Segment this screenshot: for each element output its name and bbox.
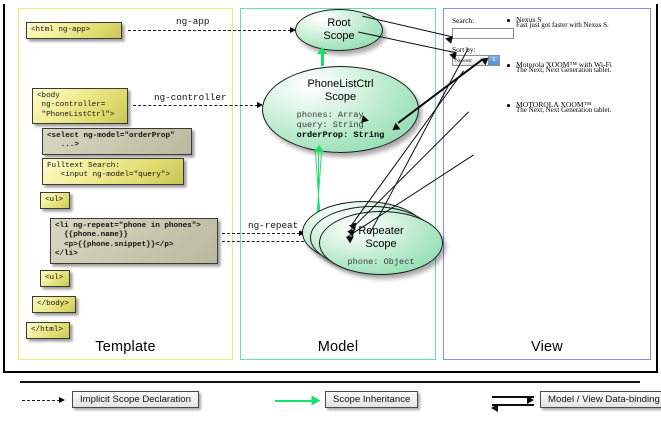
view-sort-label: Sort by: <box>452 45 514 54</box>
frame-right-border <box>656 4 658 372</box>
scope-repeater-title-1: Repeater <box>320 225 442 238</box>
scope-property-phone: phone: Object <box>347 257 414 267</box>
connector-label-ng-controller: ng-controller <box>152 92 229 103</box>
lane-label-model: Model <box>241 339 435 355</box>
bullet-icon <box>507 64 510 67</box>
code-box-select: <select ng-model="orderProp" ...> <box>42 128 192 155</box>
frame-bottom-border <box>3 371 658 373</box>
dashed-arrow-icon <box>59 397 65 403</box>
bullet-icon <box>507 19 510 22</box>
connector-label-ng-app: ng-app <box>174 16 211 27</box>
legend-bidir-line-bottom <box>492 404 534 406</box>
inherit-arrow-root-shaft <box>321 54 324 66</box>
view-search-label: Search: <box>452 16 514 25</box>
connector-ng-controller-line <box>133 105 258 106</box>
scope-phonelistctrl-properties: phones: Array query: String orderProp: S… <box>297 110 385 141</box>
legend-item-inheritance: Scope Inheritance <box>325 391 418 408</box>
lane-model: Model <box>240 8 436 360</box>
scope-repeater-title-2: Scope <box>320 238 442 251</box>
inherit-arrow-repeater-tip <box>314 145 324 152</box>
connector-label-ng-repeat: ng-repeat <box>246 220 300 231</box>
frame-left-border <box>3 4 5 372</box>
code-box-body-close: </body> <box>32 296 76 313</box>
legend-green-line <box>275 400 313 403</box>
bullet-icon <box>507 104 510 107</box>
scope-property-query: query: String <box>297 120 385 130</box>
scope-property-phones: phones: Array <box>297 110 385 120</box>
scope-root-title-2: Scope <box>296 30 382 43</box>
lane-label-template: Template <box>19 339 232 355</box>
scope-repeater-properties: phone: Object <box>347 257 414 267</box>
connector-ng-app-line <box>128 30 291 31</box>
lane-label-view: View <box>444 339 650 355</box>
code-box-html-close: </html> <box>26 322 70 339</box>
scope-root: Root Scope <box>295 9 383 51</box>
connector-ng-repeat-line-1 <box>222 233 300 234</box>
code-box-body: <body ng-controller= "PhoneListCtrl"> <box>32 88 128 124</box>
legend-bidir-arrow-left <box>491 404 498 412</box>
code-box-ul-open: <ul> <box>40 192 70 209</box>
legend-divider <box>20 381 640 383</box>
view-sort-selected-value: Newest <box>455 58 472 64</box>
legend-item-implicit: Implicit Scope Declaration <box>72 391 199 408</box>
green-arrow-icon <box>312 396 321 406</box>
code-box-li-repeat: <li ng-repeat="phone in phones"> {{phone… <box>50 218 218 264</box>
legend-item-databinding: Model / View Data-binding <box>540 391 661 408</box>
scope-phonelistctrl-title-1: PhoneListCtrl <box>263 78 418 91</box>
scope-repeater: Repeater Scope phone: Object <box>319 211 443 275</box>
code-box-ul-close: <ul> <box>40 270 70 287</box>
bidirectional-arrow-icon <box>527 396 534 404</box>
scope-phonelistctrl-title-2: Scope <box>263 91 418 104</box>
scope-phonelistctrl: PhoneListCtrl Scope phones: Array query:… <box>262 66 419 153</box>
inherit-arrow-root-tip <box>317 47 327 54</box>
code-box-html: <html ng-app> <box>26 22 122 39</box>
legend-dashed-line <box>22 400 60 401</box>
view-phone-snippet-2: The Next, Next Generation tablet. <box>516 106 611 115</box>
scope-property-orderprop: orderProp: String <box>297 130 385 140</box>
scope-root-title-1: Root <box>296 17 382 30</box>
view-search-input[interactable] <box>452 28 514 39</box>
connector-ng-repeat-line-2 <box>222 241 309 242</box>
view-phone-snippet-0: Fast just got faster with Nexus S. <box>516 21 609 30</box>
diagram-canvas: Template Model View <html ng-app> <body … <box>0 0 661 425</box>
view-phone-snippet-1: The Next, Next Generation tablet. <box>516 66 611 75</box>
code-box-search: Fulltext Search: <input ng-model="query"… <box>42 158 184 185</box>
